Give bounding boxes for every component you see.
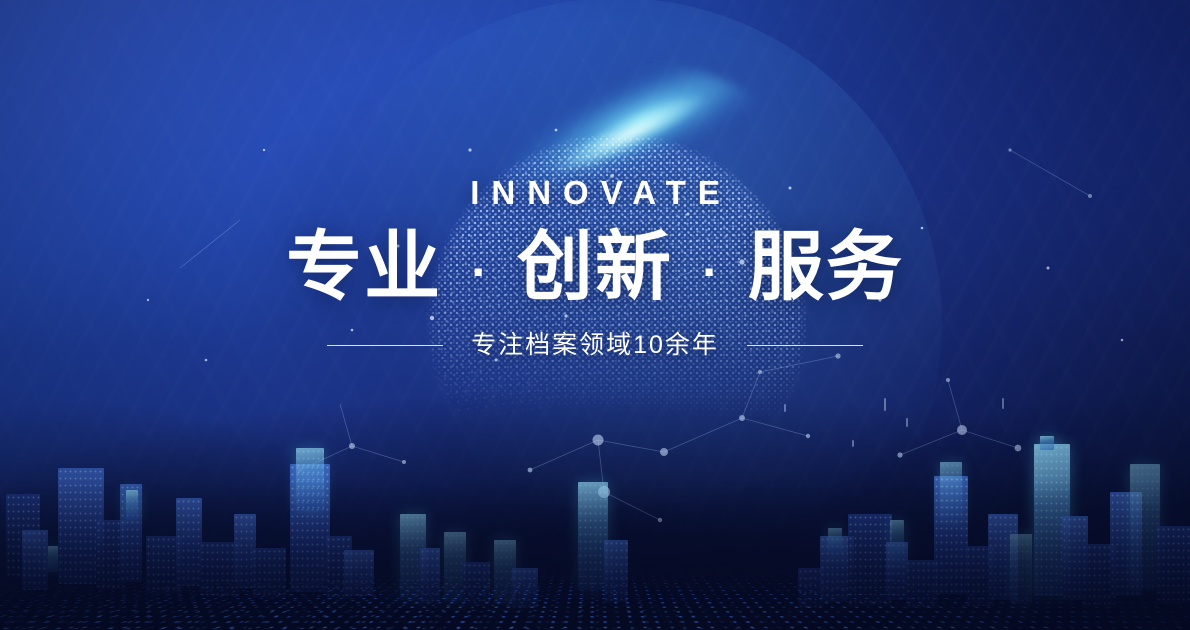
headline-separator-dot-1: · — [465, 244, 494, 300]
headline-separator-dot-2: · — [696, 244, 725, 300]
rule-left-icon — [327, 345, 443, 346]
subtitle-row: 专注档案领域10余年 — [0, 333, 1190, 358]
page-title: 专业 · 创新 · 服务 — [0, 228, 1190, 309]
subtitle-text: 专注档案领域10余年 — [471, 333, 719, 358]
headline-part-3: 服务 — [748, 225, 904, 310]
eyebrow-text: INNOVATE — [0, 176, 1190, 209]
headline-part-2: 创新 — [517, 225, 673, 310]
banner-content: INNOVATE 专业 · 创新 · 服务 专注档案领域10余年 — [0, 176, 1190, 358]
rule-right-icon — [747, 345, 863, 346]
hero-banner: INNOVATE 专业 · 创新 · 服务 专注档案领域10余年 — [0, 0, 1190, 630]
headline-part-1: 专业 — [286, 225, 442, 310]
